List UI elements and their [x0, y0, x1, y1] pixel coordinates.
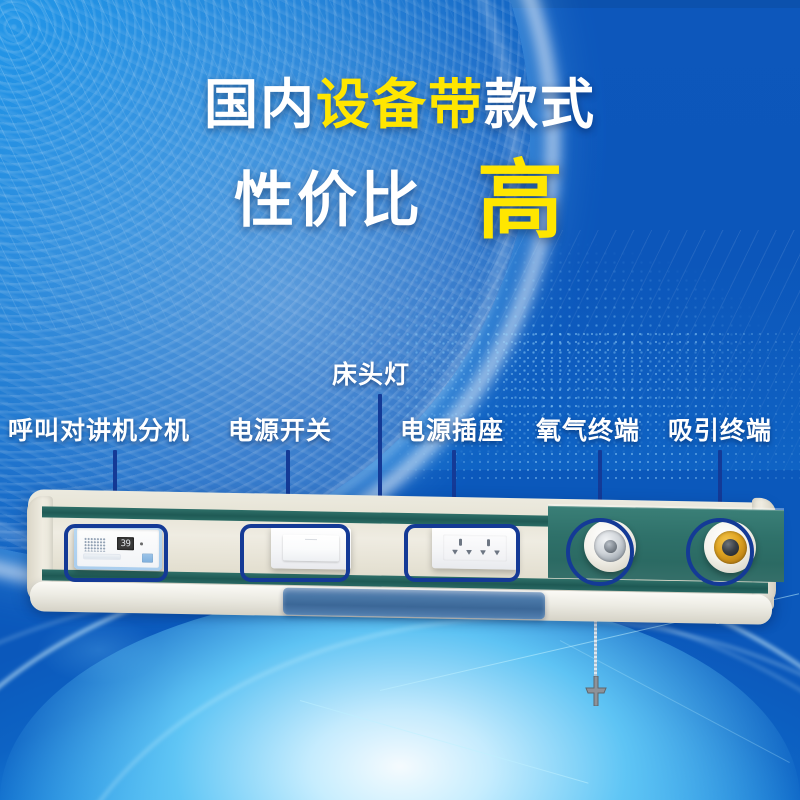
cord-end-clip-icon: [582, 676, 610, 706]
highlight-circle-suction: [686, 518, 754, 586]
highlight-box-intercom: [64, 524, 168, 582]
callout-label-suction-outlet: 吸引终端: [668, 418, 772, 443]
highlight-box-power-switch: [240, 524, 350, 582]
callout-label-intercom: 呼叫对讲机分机: [8, 418, 190, 443]
callout-label-power-switch: 电源开关: [228, 418, 332, 443]
poster-canvas: 国内设备带款式 性价比 高 呼叫对讲机分机 电源开关 床头灯 电源插座 氧气终端…: [0, 0, 800, 800]
callout-label-oxygen-outlet: 氧气终端: [536, 418, 640, 443]
bed-lamp-diffuser-cover[interactable]: [283, 588, 545, 620]
highlight-box-power-socket: [404, 524, 520, 582]
highlight-circle-oxygen: [566, 518, 634, 586]
callout-label-bed-lamp: 床头灯: [332, 362, 410, 387]
callout-layer: 呼叫对讲机分机 电源开关 床头灯 电源插座 氧气终端 吸引终端: [0, 0, 800, 800]
callout-label-power-socket: 电源插座: [400, 418, 504, 443]
